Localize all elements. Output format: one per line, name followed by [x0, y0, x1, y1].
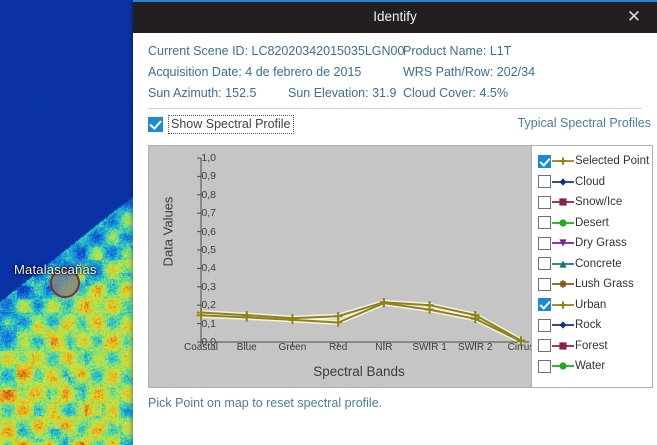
chart-plot-area: Data Values Spectral Bands 0,00,10,20,30…	[149, 146, 532, 387]
show-profile-row: Show Spectral Profile Typical Spectral P…	[133, 112, 657, 138]
chart-y-tick: 0,3	[176, 281, 216, 293]
legend-item-snow-ice[interactable]: Snow/Ice	[538, 192, 652, 213]
chart-legend: Selected PointCloudSnow/IceDesertDry Gra…	[531, 146, 652, 387]
wrs-label: WRS Path/Row:	[403, 65, 493, 79]
identify-dialog: Identify ✕ Current Scene ID: LC820203420…	[133, 0, 657, 445]
sun-elevation-value: 31.9	[372, 86, 396, 100]
legend-checkbox[interactable]	[538, 339, 551, 352]
product-label: Product Name:	[403, 44, 486, 58]
legend-item-lush-grass[interactable]: Lush Grass	[538, 274, 652, 295]
close-icon[interactable]: ✕	[619, 0, 649, 33]
reset-profile-hint[interactable]: Pick Point on map to reset spectral prof…	[148, 396, 382, 410]
legend-marker-triangle-down-icon	[552, 236, 574, 250]
legend-marker-square-icon	[552, 195, 574, 209]
chart-y-tick: 0,7	[176, 207, 216, 219]
legend-item-rock[interactable]: Rock	[538, 315, 652, 336]
sun-elevation-label: Sun Elevation:	[288, 86, 369, 100]
legend-item-label: Lush Grass	[575, 278, 634, 290]
acquisition-value: 4 de febrero de 2015	[245, 65, 361, 79]
legend-item-label: Urban	[575, 299, 606, 311]
divider	[148, 108, 642, 109]
legend-marker-square-icon	[552, 339, 574, 353]
chart-y-tick: 1,0	[176, 152, 216, 164]
show-spectral-profile-label[interactable]: Show Spectral Profile	[168, 115, 294, 134]
legend-item-label: Cloud	[575, 176, 605, 188]
legend-item-selected-point[interactable]: Selected Point	[538, 151, 652, 172]
metadata-row-acquisition: Acquisition Date: 4 de febrero de 2015WR…	[148, 62, 648, 83]
legend-item-concrete[interactable]: Concrete	[538, 254, 652, 275]
check-icon	[149, 117, 162, 130]
chart-y-tick: 0,5	[176, 244, 216, 256]
screen: Matalascañas Identify ✕ Current Scene ID…	[0, 0, 657, 445]
legend-item-desert[interactable]: Desert	[538, 213, 652, 234]
metadata-row-scene: Current Scene ID: LC82020342015035LGN00P…	[148, 41, 648, 62]
map-place-label: Matalascañas	[14, 262, 97, 277]
chart-y-tick: 0,8	[176, 189, 216, 201]
legend-item-label: Rock	[575, 319, 601, 331]
dialog-title: Identify	[133, 0, 657, 33]
cloud-cover-value: 4.5%	[479, 86, 508, 100]
sun-azimuth-label: Sun Azimuth:	[148, 86, 222, 100]
typical-spectral-profiles-link[interactable]: Typical Spectral Profiles	[518, 116, 651, 130]
legend-marker-plus-icon	[552, 298, 574, 312]
legend-checkbox[interactable]	[538, 175, 551, 188]
sun-azimuth-value: 152.5	[225, 86, 256, 100]
chart-y-tick: 0,2	[176, 299, 216, 311]
legend-item-urban[interactable]: Urban	[538, 295, 652, 316]
legend-item-label: Concrete	[575, 258, 622, 270]
legend-item-water[interactable]: Water	[538, 356, 652, 377]
legend-checkbox[interactable]	[538, 216, 551, 229]
legend-checkbox[interactable]	[538, 257, 551, 270]
chart-y-tick: 0,4	[176, 262, 216, 274]
legend-marker-star-icon	[552, 277, 574, 291]
legend-item-label: Snow/Ice	[575, 196, 622, 208]
legend-checkbox[interactable]	[538, 278, 551, 291]
legend-item-cloud[interactable]: Cloud	[538, 172, 652, 193]
legend-marker-circle-icon	[552, 216, 574, 230]
show-spectral-profile-checkbox[interactable]	[148, 117, 163, 132]
legend-checkbox[interactable]	[538, 155, 551, 168]
legend-item-label: Selected Point	[575, 155, 649, 167]
sun-elevation-field: Sun Elevation: 31.9	[288, 83, 403, 104]
legend-marker-diamond-icon	[552, 175, 574, 189]
legend-item-label: Water	[575, 360, 605, 372]
chart-y-tick: 0,1	[176, 318, 216, 330]
scene-id-field: Current Scene ID: LC82020342015035LGN00	[148, 41, 403, 62]
legend-checkbox[interactable]	[538, 319, 551, 332]
legend-checkbox[interactable]	[538, 298, 551, 311]
wrs-value: 202/34	[497, 65, 535, 79]
legend-item-label: Desert	[575, 217, 609, 229]
dialog-titlebar: Identify ✕	[133, 0, 657, 33]
legend-marker-diamond-icon	[552, 318, 574, 332]
scene-metadata: Current Scene ID: LC82020342015035LGN00P…	[133, 33, 657, 107]
chart-y-tick: 0,9	[176, 170, 216, 182]
legend-item-forest[interactable]: Forest	[538, 336, 652, 357]
chart-y-tick: 0,6	[176, 226, 216, 238]
sun-azimuth-field: Sun Azimuth: 152.5	[148, 83, 288, 104]
legend-marker-plus-icon	[552, 154, 574, 168]
spectral-profile-chart: Data Values Spectral Bands 0,00,10,20,30…	[148, 145, 653, 388]
cloud-cover-label: Cloud Cover:	[403, 86, 476, 100]
legend-checkbox[interactable]	[538, 196, 551, 209]
acquisition-label: Acquisition Date:	[148, 65, 242, 79]
legend-item-label: Dry Grass	[575, 237, 627, 249]
scene-id-value: LC82020342015035LGN00	[252, 44, 405, 58]
legend-marker-circle-icon	[552, 359, 574, 373]
metadata-row-sun: Sun Azimuth: 152.5Sun Elevation: 31.9Clo…	[148, 83, 648, 104]
legend-checkbox[interactable]	[538, 237, 551, 250]
product-value: L1T	[490, 44, 512, 58]
legend-checkbox[interactable]	[538, 360, 551, 373]
scene-id-label: Current Scene ID:	[148, 44, 248, 58]
acquisition-field: Acquisition Date: 4 de febrero de 2015	[148, 62, 403, 83]
legend-item-label: Forest	[575, 340, 608, 352]
legend-item-dry-grass[interactable]: Dry Grass	[538, 233, 652, 254]
legend-marker-triangle-up-icon	[552, 257, 574, 271]
